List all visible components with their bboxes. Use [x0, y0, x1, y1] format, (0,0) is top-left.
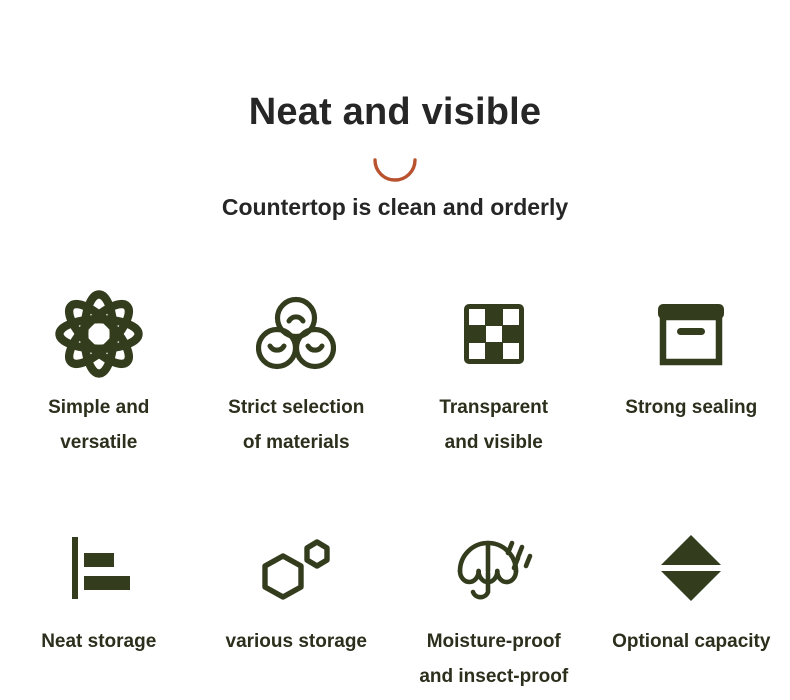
feature-label: Transparent and visible — [439, 390, 548, 460]
feature-icon-wrap — [659, 526, 723, 610]
feature-label: Strong sealing — [625, 390, 757, 425]
feature-item-various-storage: various storage — [198, 526, 396, 694]
storage-box-icon — [654, 299, 728, 369]
feature-item-transparent-and-visible: Transparent and visible — [395, 292, 593, 460]
feature-row: Simple and versatile — [0, 292, 790, 460]
feature-label: various storage — [226, 624, 368, 659]
feature-label: Moisture-proof and insect-proof — [419, 624, 568, 694]
feature-label: Strict selection of materials — [228, 390, 364, 460]
feature-item-simple-and-versatile: Simple and versatile — [0, 292, 198, 460]
feature-label: Simple and versatile — [14, 390, 184, 460]
page-subtitle: Countertop is clean and orderly — [0, 194, 790, 222]
feature-item-strict-selection: Strict selection of materials — [198, 292, 396, 460]
header-section: Neat and visible Countertop is clean and… — [0, 0, 790, 221]
atom-flower-icon — [53, 288, 145, 380]
feature-item-strong-sealing: Strong sealing — [593, 292, 790, 460]
checkerboard-icon — [463, 303, 525, 365]
feature-icon-wrap — [463, 292, 525, 376]
feature-item-optional-capacity: Optional capacity — [593, 526, 790, 694]
promo-banner: Neat and visible Countertop is clean and… — [0, 0, 790, 700]
feature-icon-wrap — [452, 526, 536, 610]
feature-icon-wrap — [255, 526, 337, 610]
feature-label: Optional capacity — [612, 624, 770, 659]
feature-item-neat-storage: Neat storage — [0, 526, 198, 694]
up-down-triangles-icon — [659, 533, 723, 603]
feature-icon-wrap — [256, 292, 336, 376]
feature-icon-wrap — [654, 292, 728, 376]
feature-icon-wrap — [53, 292, 145, 376]
feature-icon-wrap — [66, 526, 132, 610]
feature-row: Neat storage various storage — [0, 526, 790, 694]
feature-item-moisture-proof: Moisture-proof and insect-proof — [395, 526, 593, 694]
arc-divider-icon — [372, 158, 418, 182]
umbrella-rain-icon — [452, 529, 536, 607]
double-hexagon-icon — [255, 532, 337, 604]
page-title: Neat and visible — [0, 0, 790, 134]
feature-label: Neat storage — [41, 624, 156, 659]
align-bars-icon — [66, 534, 132, 602]
feature-grid: Simple and versatile — [0, 292, 790, 695]
three-circles-beans-icon — [256, 296, 336, 372]
